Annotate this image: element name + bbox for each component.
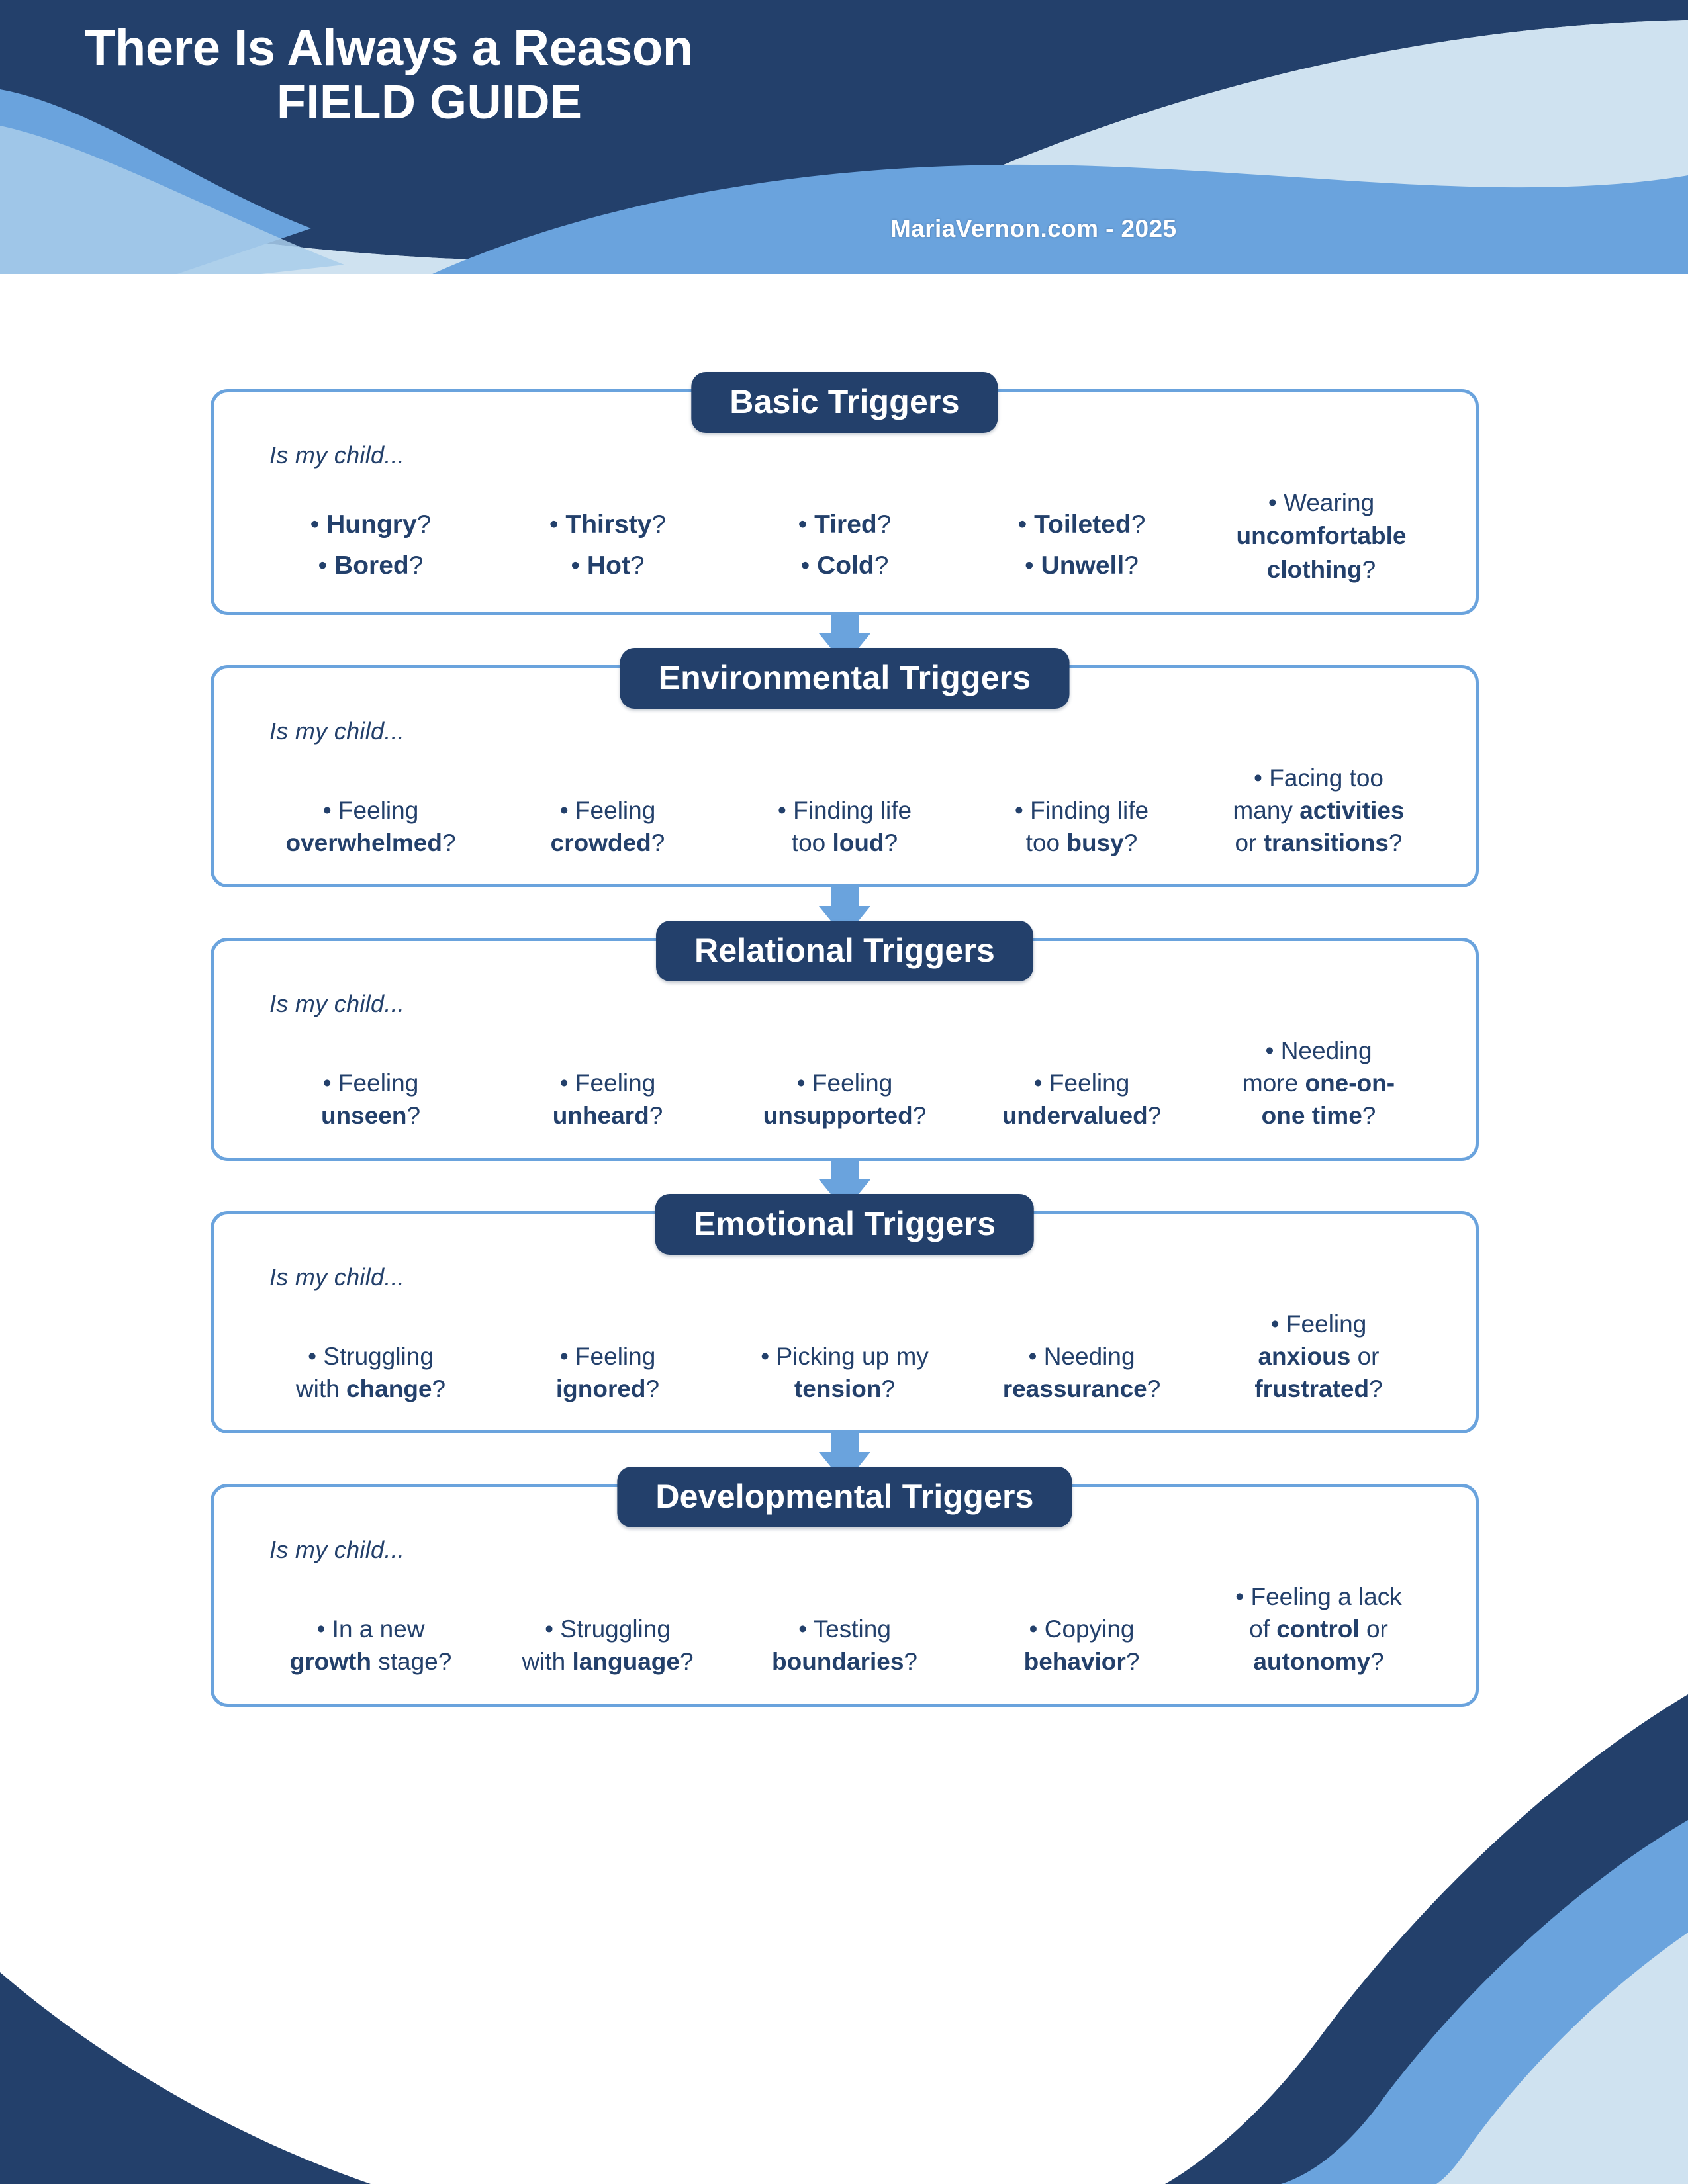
dev-item-boundaries: • Testing boundaries? — [726, 1614, 963, 1678]
basic-item-hungry: • Hungry? — [252, 510, 489, 539]
basic-item-hot: • Hot? — [489, 551, 726, 580]
env-item-crowded: • Feeling crowded? — [489, 795, 726, 860]
emotional-items-row: • Struggling with change? • Feeling igno… — [252, 1308, 1437, 1405]
rel-item-unsupported: • Feeling unsupported? — [726, 1068, 963, 1132]
header-title-block: There Is Always a Reason FIELD GUIDE — [85, 20, 693, 130]
section-header-developmental: Developmental Triggers — [617, 1467, 1072, 1527]
basic-row-2: • Bored? • Hot? • Cold? • Unwell? — [252, 551, 1200, 580]
section-developmental-triggers: Developmental Triggers Is my child... • … — [211, 1484, 1479, 1706]
page-title-line-1: There Is Always a Reason — [85, 20, 693, 76]
emo-item-change: • Struggling with change? — [252, 1341, 489, 1406]
env-item-busy: • Finding life too busy? — [963, 795, 1200, 860]
basic-item-bored: • Bored? — [252, 551, 489, 580]
section-header-emotional: Emotional Triggers — [655, 1194, 1034, 1255]
section-header-environmental: Environmental Triggers — [620, 648, 1070, 709]
prompt-label-developmental: Is my child... — [269, 1536, 1437, 1564]
env-item-loud: • Finding life too loud? — [726, 795, 963, 860]
environmental-items-row: • Feeling overwhelmed? • Feeling crowded… — [252, 762, 1437, 859]
basic-item-tired: • Tired? — [726, 510, 963, 539]
basic-row-1: • Hungry? • Thirsty? • Tired? • Toileted… — [252, 510, 1200, 539]
emo-item-tension: • Picking up my tension? — [726, 1341, 963, 1406]
trigger-flowchart: Basic Triggers Is my child... • Hungry? … — [211, 389, 1479, 1707]
section-environmental-triggers: Environmental Triggers Is my child... • … — [211, 665, 1479, 887]
rel-item-unseen: • Feeling unseen? — [252, 1068, 489, 1132]
relational-items-row: • Feeling unseen? • Feeling unheard? • F… — [252, 1035, 1437, 1132]
emo-item-reassurance: • Needing reassurance? — [963, 1341, 1200, 1406]
site-credit: MariaVernon.com - 2025 — [890, 215, 1176, 243]
developmental-items-row: • In a new growth stage? • Struggling wi… — [252, 1581, 1437, 1678]
dev-item-language: • Struggling with language? — [489, 1614, 726, 1678]
prompt-label-basic: Is my child... — [269, 441, 1437, 469]
env-item-overwhelmed: • Feeling overwhelmed? — [252, 795, 489, 860]
dev-item-growth-stage: • In a new growth stage? — [252, 1614, 489, 1678]
dev-item-behavior: • Copying behavior? — [963, 1614, 1200, 1678]
section-header-relational: Relational Triggers — [656, 921, 1033, 981]
section-basic-triggers: Basic Triggers Is my child... • Hungry? … — [211, 389, 1479, 615]
rel-item-one-on-one-time: • Needing more one-on- one time? — [1200, 1035, 1437, 1132]
rel-item-unheard: • Feeling unheard? — [489, 1068, 726, 1132]
emo-item-ignored: • Feeling ignored? — [489, 1341, 726, 1406]
basic-item-toileted: • Toileted? — [963, 510, 1200, 539]
prompt-label-relational: Is my child... — [269, 990, 1437, 1018]
dev-item-control-autonomy: • Feeling a lack of control or autonomy? — [1200, 1581, 1437, 1678]
prompt-label-emotional: Is my child... — [269, 1263, 1437, 1291]
env-item-activities-transitions: • Facing too many activities or transiti… — [1200, 762, 1437, 859]
basic-item-thirsty: • Thirsty? — [489, 510, 726, 539]
page-title-line-2: FIELD GUIDE — [85, 76, 693, 130]
basic-items-grid: • Hungry? • Thirsty? • Tired? • Toileted… — [252, 486, 1437, 586]
section-relational-triggers: Relational Triggers Is my child... • Fee… — [211, 938, 1479, 1160]
basic-item-clothing: • Wearing uncomfortable clothing? — [1200, 486, 1442, 586]
basic-left-columns: • Hungry? • Thirsty? • Tired? • Toileted… — [252, 486, 1200, 586]
section-header-basic: Basic Triggers — [691, 372, 998, 433]
prompt-label-environmental: Is my child... — [269, 717, 1437, 745]
basic-item-cold: • Cold? — [726, 551, 963, 580]
basic-item-unwell: • Unwell? — [963, 551, 1200, 580]
section-emotional-triggers: Emotional Triggers Is my child... • Stru… — [211, 1211, 1479, 1433]
emo-item-anxious-frustrated: • Feeling anxious or frustrated? — [1200, 1308, 1437, 1405]
rel-item-undervalued: • Feeling undervalued? — [963, 1068, 1200, 1132]
